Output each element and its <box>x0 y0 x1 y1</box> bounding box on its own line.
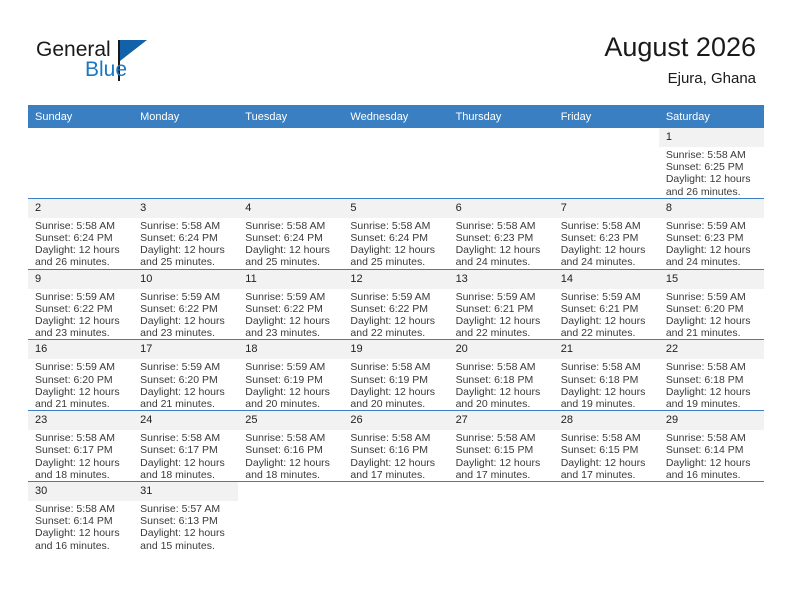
calendar-day-cell-empty <box>449 128 554 198</box>
day-sunset-text: Sunset: 6:24 PM <box>245 232 339 244</box>
day-details: Sunrise: 5:58 AMSunset: 6:18 PMDaylight:… <box>554 359 659 410</box>
day-sunrise-text: Sunrise: 5:58 AM <box>140 432 234 444</box>
day-sunset-text: Sunset: 6:16 PM <box>350 444 444 456</box>
day-details: Sunrise: 5:58 AMSunset: 6:14 PMDaylight:… <box>28 501 133 552</box>
day-sunrise-text: Sunrise: 5:58 AM <box>35 432 129 444</box>
day-sunset-text: Sunset: 6:24 PM <box>140 232 234 244</box>
day-daylight-1-text: Daylight: 12 hours <box>140 315 234 327</box>
day-sunset-text: Sunset: 6:19 PM <box>245 374 339 386</box>
day-sunrise-text: Sunrise: 5:58 AM <box>561 220 655 232</box>
day-daylight-1-text: Daylight: 12 hours <box>666 386 760 398</box>
day-number: 22 <box>659 340 764 359</box>
calendar-day-cell[interactable]: 27Sunrise: 5:58 AMSunset: 6:15 PMDayligh… <box>449 411 554 482</box>
day-details: Sunrise: 5:58 AMSunset: 6:24 PMDaylight:… <box>28 218 133 269</box>
calendar-day-cell[interactable]: 12Sunrise: 5:59 AMSunset: 6:22 PMDayligh… <box>343 269 448 340</box>
day-sunset-text: Sunset: 6:20 PM <box>666 303 760 315</box>
calendar-page: General Blue August 2026 Ejura, Ghana Su… <box>0 0 792 612</box>
day-daylight-2-text: and 23 minutes. <box>35 327 129 339</box>
day-number: 29 <box>659 411 764 430</box>
calendar-day-cell[interactable]: 18Sunrise: 5:59 AMSunset: 6:19 PMDayligh… <box>238 340 343 411</box>
page-title: August 2026 <box>604 30 756 64</box>
brand-word-blue: Blue <box>85 58 127 82</box>
day-sunset-text: Sunset: 6:21 PM <box>561 303 655 315</box>
day-details: Sunrise: 5:58 AMSunset: 6:17 PMDaylight:… <box>28 430 133 481</box>
day-sunrise-text: Sunrise: 5:58 AM <box>350 432 444 444</box>
calendar-day-cell[interactable]: 3Sunrise: 5:58 AMSunset: 6:24 PMDaylight… <box>133 198 238 269</box>
day-daylight-2-text: and 19 minutes. <box>561 398 655 410</box>
day-daylight-2-text: and 23 minutes. <box>245 327 339 339</box>
day-sunset-text: Sunset: 6:13 PM <box>140 515 234 527</box>
day-sunrise-text: Sunrise: 5:58 AM <box>456 432 550 444</box>
day-daylight-2-text: and 21 minutes. <box>666 327 760 339</box>
day-daylight-2-text: and 19 minutes. <box>666 398 760 410</box>
day-details: Sunrise: 5:58 AMSunset: 6:23 PMDaylight:… <box>554 218 659 269</box>
title-block: August 2026 Ejura, Ghana <box>604 30 756 90</box>
day-number <box>28 128 133 147</box>
day-sunset-text: Sunset: 6:18 PM <box>456 374 550 386</box>
day-sunset-text: Sunset: 6:24 PM <box>35 232 129 244</box>
calendar-grid: Sunday Monday Tuesday Wednesday Thursday… <box>28 105 764 552</box>
day-details: Sunrise: 5:57 AMSunset: 6:13 PMDaylight:… <box>133 501 238 552</box>
day-daylight-2-text: and 26 minutes. <box>666 186 760 198</box>
day-daylight-2-text: and 20 minutes. <box>350 398 444 410</box>
day-number: 4 <box>238 199 343 218</box>
day-daylight-1-text: Daylight: 12 hours <box>140 457 234 469</box>
day-number: 13 <box>449 270 554 289</box>
day-details: Sunrise: 5:59 AMSunset: 6:19 PMDaylight:… <box>238 359 343 410</box>
day-number <box>659 482 764 501</box>
day-details: Sunrise: 5:59 AMSunset: 6:23 PMDaylight:… <box>659 218 764 269</box>
calendar-day-cell[interactable]: 6Sunrise: 5:58 AMSunset: 6:23 PMDaylight… <box>449 198 554 269</box>
day-daylight-2-text: and 21 minutes. <box>35 398 129 410</box>
calendar-body: 1Sunrise: 5:58 AMSunset: 6:25 PMDaylight… <box>28 128 764 552</box>
day-sunrise-text: Sunrise: 5:58 AM <box>140 220 234 232</box>
day-daylight-2-text: and 23 minutes. <box>140 327 234 339</box>
day-daylight-1-text: Daylight: 12 hours <box>456 457 550 469</box>
day-sunset-text: Sunset: 6:23 PM <box>456 232 550 244</box>
day-sunrise-text: Sunrise: 5:59 AM <box>666 220 760 232</box>
calendar-day-cell[interactable]: 2Sunrise: 5:58 AMSunset: 6:24 PMDaylight… <box>28 198 133 269</box>
day-sunset-text: Sunset: 6:24 PM <box>350 232 444 244</box>
day-daylight-2-text: and 18 minutes. <box>245 469 339 481</box>
calendar-day-cell[interactable]: 16Sunrise: 5:59 AMSunset: 6:20 PMDayligh… <box>28 340 133 411</box>
day-number: 8 <box>659 199 764 218</box>
day-daylight-1-text: Daylight: 12 hours <box>35 244 129 256</box>
day-number: 9 <box>28 270 133 289</box>
day-sunrise-text: Sunrise: 5:58 AM <box>245 432 339 444</box>
day-number: 15 <box>659 270 764 289</box>
day-daylight-1-text: Daylight: 12 hours <box>561 457 655 469</box>
calendar-day-cell[interactable]: 5Sunrise: 5:58 AMSunset: 6:24 PMDaylight… <box>343 198 448 269</box>
calendar-day-cell-empty <box>238 128 343 198</box>
day-number <box>449 482 554 501</box>
day-daylight-1-text: Daylight: 12 hours <box>350 457 444 469</box>
calendar-day-cell-empty <box>554 482 659 552</box>
day-number: 21 <box>554 340 659 359</box>
page-subtitle: Ejura, Ghana <box>604 68 756 90</box>
day-number: 25 <box>238 411 343 430</box>
calendar-day-cell[interactable]: 23Sunrise: 5:58 AMSunset: 6:17 PMDayligh… <box>28 411 133 482</box>
day-sunrise-text: Sunrise: 5:58 AM <box>456 220 550 232</box>
day-daylight-1-text: Daylight: 12 hours <box>245 386 339 398</box>
day-number: 24 <box>133 411 238 430</box>
day-daylight-2-text: and 15 minutes. <box>140 540 234 552</box>
day-daylight-1-text: Daylight: 12 hours <box>350 386 444 398</box>
day-daylight-2-text: and 18 minutes. <box>35 469 129 481</box>
calendar-day-cell-empty <box>28 128 133 198</box>
day-sunset-text: Sunset: 6:14 PM <box>666 444 760 456</box>
day-number: 12 <box>343 270 448 289</box>
page-header: General Blue August 2026 Ejura, Ghana <box>0 0 792 104</box>
day-number: 28 <box>554 411 659 430</box>
day-number <box>238 128 343 147</box>
day-sunrise-text: Sunrise: 5:58 AM <box>35 503 129 515</box>
day-daylight-2-text: and 24 minutes. <box>456 256 550 268</box>
day-number <box>554 482 659 501</box>
day-sunrise-text: Sunrise: 5:59 AM <box>561 291 655 303</box>
calendar-day-cell[interactable]: 21Sunrise: 5:58 AMSunset: 6:18 PMDayligh… <box>554 340 659 411</box>
day-sunset-text: Sunset: 6:23 PM <box>666 232 760 244</box>
calendar-day-cell[interactable]: 22Sunrise: 5:58 AMSunset: 6:18 PMDayligh… <box>659 340 764 411</box>
calendar-day-cell[interactable]: 14Sunrise: 5:59 AMSunset: 6:21 PMDayligh… <box>554 269 659 340</box>
weekday-header-sunday: Sunday <box>28 105 133 128</box>
day-details: Sunrise: 5:58 AMSunset: 6:15 PMDaylight:… <box>449 430 554 481</box>
day-details: Sunrise: 5:58 AMSunset: 6:24 PMDaylight:… <box>238 218 343 269</box>
day-daylight-1-text: Daylight: 12 hours <box>666 244 760 256</box>
weekday-header-friday: Friday <box>554 105 659 128</box>
day-number: 16 <box>28 340 133 359</box>
day-number: 31 <box>133 482 238 501</box>
day-daylight-1-text: Daylight: 12 hours <box>666 457 760 469</box>
day-details: Sunrise: 5:58 AMSunset: 6:14 PMDaylight:… <box>659 430 764 481</box>
calendar-day-cell[interactable]: 17Sunrise: 5:59 AMSunset: 6:20 PMDayligh… <box>133 340 238 411</box>
brand-logo[interactable]: General Blue <box>36 38 236 88</box>
day-details: Sunrise: 5:58 AMSunset: 6:16 PMDaylight:… <box>343 430 448 481</box>
day-sunset-text: Sunset: 6:18 PM <box>561 374 655 386</box>
day-daylight-1-text: Daylight: 12 hours <box>456 315 550 327</box>
day-sunrise-text: Sunrise: 5:59 AM <box>456 291 550 303</box>
calendar-day-cell[interactable]: 9Sunrise: 5:59 AMSunset: 6:22 PMDaylight… <box>28 269 133 340</box>
day-sunrise-text: Sunrise: 5:58 AM <box>456 361 550 373</box>
weekday-header-saturday: Saturday <box>659 105 764 128</box>
day-sunrise-text: Sunrise: 5:59 AM <box>350 291 444 303</box>
day-details: Sunrise: 5:58 AMSunset: 6:23 PMDaylight:… <box>449 218 554 269</box>
day-details: Sunrise: 5:58 AMSunset: 6:24 PMDaylight:… <box>133 218 238 269</box>
day-sunset-text: Sunset: 6:15 PM <box>456 444 550 456</box>
day-details: Sunrise: 5:58 AMSunset: 6:19 PMDaylight:… <box>343 359 448 410</box>
calendar-day-cell[interactable]: 24Sunrise: 5:58 AMSunset: 6:17 PMDayligh… <box>133 411 238 482</box>
day-sunrise-text: Sunrise: 5:58 AM <box>561 361 655 373</box>
weekday-header-row: Sunday Monday Tuesday Wednesday Thursday… <box>28 105 764 128</box>
day-details: Sunrise: 5:59 AMSunset: 6:22 PMDaylight:… <box>343 289 448 340</box>
day-number: 27 <box>449 411 554 430</box>
calendar-week-row: 30Sunrise: 5:58 AMSunset: 6:14 PMDayligh… <box>28 482 764 552</box>
day-daylight-1-text: Daylight: 12 hours <box>350 315 444 327</box>
calendar-day-cell-empty <box>133 128 238 198</box>
day-sunrise-text: Sunrise: 5:58 AM <box>350 361 444 373</box>
day-number: 2 <box>28 199 133 218</box>
day-sunrise-text: Sunrise: 5:59 AM <box>35 291 129 303</box>
calendar-week-row: 9Sunrise: 5:59 AMSunset: 6:22 PMDaylight… <box>28 269 764 340</box>
day-daylight-2-text: and 22 minutes. <box>350 327 444 339</box>
day-sunrise-text: Sunrise: 5:59 AM <box>35 361 129 373</box>
day-number: 5 <box>343 199 448 218</box>
day-daylight-1-text: Daylight: 12 hours <box>666 173 760 185</box>
day-details: Sunrise: 5:58 AMSunset: 6:16 PMDaylight:… <box>238 430 343 481</box>
day-daylight-2-text: and 17 minutes. <box>350 469 444 481</box>
weekday-header-wednesday: Wednesday <box>343 105 448 128</box>
day-number: 10 <box>133 270 238 289</box>
day-daylight-2-text: and 20 minutes. <box>456 398 550 410</box>
day-daylight-1-text: Daylight: 12 hours <box>561 386 655 398</box>
weekday-header-monday: Monday <box>133 105 238 128</box>
day-daylight-1-text: Daylight: 12 hours <box>35 315 129 327</box>
day-sunset-text: Sunset: 6:18 PM <box>666 374 760 386</box>
day-sunset-text: Sunset: 6:25 PM <box>666 161 760 173</box>
day-sunset-text: Sunset: 6:20 PM <box>140 374 234 386</box>
day-daylight-2-text: and 22 minutes. <box>456 327 550 339</box>
calendar-day-cell[interactable]: 19Sunrise: 5:58 AMSunset: 6:19 PMDayligh… <box>343 340 448 411</box>
day-number: 26 <box>343 411 448 430</box>
day-daylight-2-text: and 25 minutes. <box>350 256 444 268</box>
day-sunrise-text: Sunrise: 5:59 AM <box>245 291 339 303</box>
day-daylight-1-text: Daylight: 12 hours <box>35 386 129 398</box>
calendar-day-cell-empty <box>343 482 448 552</box>
day-sunrise-text: Sunrise: 5:58 AM <box>666 432 760 444</box>
weekday-header-thursday: Thursday <box>449 105 554 128</box>
day-daylight-2-text: and 22 minutes. <box>561 327 655 339</box>
calendar-day-cell[interactable]: 1Sunrise: 5:58 AMSunset: 6:25 PMDaylight… <box>659 128 764 198</box>
day-details: Sunrise: 5:58 AMSunset: 6:18 PMDaylight:… <box>449 359 554 410</box>
day-daylight-2-text: and 17 minutes. <box>456 469 550 481</box>
day-sunrise-text: Sunrise: 5:58 AM <box>245 220 339 232</box>
day-daylight-2-text: and 16 minutes. <box>666 469 760 481</box>
day-daylight-2-text: and 24 minutes. <box>561 256 655 268</box>
day-details: Sunrise: 5:59 AMSunset: 6:20 PMDaylight:… <box>659 289 764 340</box>
day-number <box>343 482 448 501</box>
day-number <box>449 128 554 147</box>
calendar-day-cell-empty <box>238 482 343 552</box>
day-sunrise-text: Sunrise: 5:57 AM <box>140 503 234 515</box>
calendar-day-cell[interactable]: 15Sunrise: 5:59 AMSunset: 6:20 PMDayligh… <box>659 269 764 340</box>
day-daylight-1-text: Daylight: 12 hours <box>561 315 655 327</box>
day-sunset-text: Sunset: 6:23 PM <box>561 232 655 244</box>
calendar-day-cell[interactable]: 20Sunrise: 5:58 AMSunset: 6:18 PMDayligh… <box>449 340 554 411</box>
calendar-day-cell-empty <box>449 482 554 552</box>
day-details: Sunrise: 5:58 AMSunset: 6:18 PMDaylight:… <box>659 359 764 410</box>
day-sunset-text: Sunset: 6:17 PM <box>35 444 129 456</box>
day-daylight-1-text: Daylight: 12 hours <box>245 244 339 256</box>
calendar-day-cell[interactable]: 29Sunrise: 5:58 AMSunset: 6:14 PMDayligh… <box>659 411 764 482</box>
day-daylight-2-text: and 26 minutes. <box>35 256 129 268</box>
day-details: Sunrise: 5:59 AMSunset: 6:22 PMDaylight:… <box>133 289 238 340</box>
day-number: 17 <box>133 340 238 359</box>
calendar-day-cell[interactable]: 25Sunrise: 5:58 AMSunset: 6:16 PMDayligh… <box>238 411 343 482</box>
day-daylight-1-text: Daylight: 12 hours <box>245 457 339 469</box>
day-sunset-text: Sunset: 6:22 PM <box>35 303 129 315</box>
day-sunrise-text: Sunrise: 5:58 AM <box>666 149 760 161</box>
day-number: 1 <box>659 128 764 147</box>
day-details: Sunrise: 5:59 AMSunset: 6:22 PMDaylight:… <box>28 289 133 340</box>
day-sunset-text: Sunset: 6:16 PM <box>245 444 339 456</box>
day-number: 18 <box>238 340 343 359</box>
day-number: 11 <box>238 270 343 289</box>
weekday-header-tuesday: Tuesday <box>238 105 343 128</box>
day-sunset-text: Sunset: 6:22 PM <box>140 303 234 315</box>
day-details: Sunrise: 5:58 AMSunset: 6:24 PMDaylight:… <box>343 218 448 269</box>
calendar-day-cell[interactable]: 8Sunrise: 5:59 AMSunset: 6:23 PMDaylight… <box>659 198 764 269</box>
day-daylight-1-text: Daylight: 12 hours <box>456 244 550 256</box>
day-daylight-1-text: Daylight: 12 hours <box>140 386 234 398</box>
day-daylight-1-text: Daylight: 12 hours <box>140 527 234 539</box>
day-daylight-2-text: and 25 minutes. <box>245 256 339 268</box>
day-daylight-1-text: Daylight: 12 hours <box>456 386 550 398</box>
day-sunset-text: Sunset: 6:15 PM <box>561 444 655 456</box>
calendar-day-cell[interactable]: 10Sunrise: 5:59 AMSunset: 6:22 PMDayligh… <box>133 269 238 340</box>
day-daylight-1-text: Daylight: 12 hours <box>35 527 129 539</box>
day-number: 3 <box>133 199 238 218</box>
day-details: Sunrise: 5:58 AMSunset: 6:25 PMDaylight:… <box>659 147 764 198</box>
calendar-day-cell-empty <box>659 482 764 552</box>
day-details: Sunrise: 5:59 AMSunset: 6:22 PMDaylight:… <box>238 289 343 340</box>
day-number: 19 <box>343 340 448 359</box>
calendar-day-cell[interactable]: 4Sunrise: 5:58 AMSunset: 6:24 PMDaylight… <box>238 198 343 269</box>
day-daylight-1-text: Daylight: 12 hours <box>666 315 760 327</box>
day-daylight-2-text: and 20 minutes. <box>245 398 339 410</box>
day-number: 30 <box>28 482 133 501</box>
day-sunset-text: Sunset: 6:14 PM <box>35 515 129 527</box>
day-daylight-1-text: Daylight: 12 hours <box>561 244 655 256</box>
day-sunrise-text: Sunrise: 5:59 AM <box>666 291 760 303</box>
day-sunrise-text: Sunrise: 5:58 AM <box>35 220 129 232</box>
day-daylight-2-text: and 21 minutes. <box>140 398 234 410</box>
day-number <box>238 482 343 501</box>
calendar-week-row: 16Sunrise: 5:59 AMSunset: 6:20 PMDayligh… <box>28 340 764 411</box>
day-sunset-text: Sunset: 6:19 PM <box>350 374 444 386</box>
day-sunrise-text: Sunrise: 5:58 AM <box>350 220 444 232</box>
calendar-day-cell[interactable]: 31Sunrise: 5:57 AMSunset: 6:13 PMDayligh… <box>133 482 238 552</box>
day-number: 14 <box>554 270 659 289</box>
day-daylight-2-text: and 24 minutes. <box>666 256 760 268</box>
day-number: 20 <box>449 340 554 359</box>
day-sunset-text: Sunset: 6:22 PM <box>350 303 444 315</box>
day-daylight-1-text: Daylight: 12 hours <box>245 315 339 327</box>
day-number <box>133 128 238 147</box>
calendar-day-cell[interactable]: 13Sunrise: 5:59 AMSunset: 6:21 PMDayligh… <box>449 269 554 340</box>
day-details: Sunrise: 5:58 AMSunset: 6:17 PMDaylight:… <box>133 430 238 481</box>
day-details: Sunrise: 5:59 AMSunset: 6:21 PMDaylight:… <box>449 289 554 340</box>
day-sunrise-text: Sunrise: 5:59 AM <box>140 291 234 303</box>
day-sunset-text: Sunset: 6:20 PM <box>35 374 129 386</box>
day-daylight-1-text: Daylight: 12 hours <box>350 244 444 256</box>
day-sunrise-text: Sunrise: 5:59 AM <box>245 361 339 373</box>
calendar-day-cell[interactable]: 30Sunrise: 5:58 AMSunset: 6:14 PMDayligh… <box>28 482 133 552</box>
calendar-week-row: 1Sunrise: 5:58 AMSunset: 6:25 PMDaylight… <box>28 128 764 198</box>
day-daylight-1-text: Daylight: 12 hours <box>35 457 129 469</box>
day-number: 23 <box>28 411 133 430</box>
calendar-day-cell[interactable]: 28Sunrise: 5:58 AMSunset: 6:15 PMDayligh… <box>554 411 659 482</box>
day-number: 6 <box>449 199 554 218</box>
day-details: Sunrise: 5:59 AMSunset: 6:21 PMDaylight:… <box>554 289 659 340</box>
day-number <box>554 128 659 147</box>
day-details: Sunrise: 5:58 AMSunset: 6:15 PMDaylight:… <box>554 430 659 481</box>
calendar-day-cell-empty <box>554 128 659 198</box>
day-sunrise-text: Sunrise: 5:58 AM <box>666 361 760 373</box>
day-daylight-2-text: and 25 minutes. <box>140 256 234 268</box>
day-sunset-text: Sunset: 6:17 PM <box>140 444 234 456</box>
day-sunset-text: Sunset: 6:21 PM <box>456 303 550 315</box>
day-sunset-text: Sunset: 6:22 PM <box>245 303 339 315</box>
day-details: Sunrise: 5:59 AMSunset: 6:20 PMDaylight:… <box>28 359 133 410</box>
day-sunrise-text: Sunrise: 5:58 AM <box>561 432 655 444</box>
day-daylight-2-text: and 18 minutes. <box>140 469 234 481</box>
day-details: Sunrise: 5:59 AMSunset: 6:20 PMDaylight:… <box>133 359 238 410</box>
day-sunrise-text: Sunrise: 5:59 AM <box>140 361 234 373</box>
day-daylight-2-text: and 16 minutes. <box>35 540 129 552</box>
day-number <box>343 128 448 147</box>
day-number: 7 <box>554 199 659 218</box>
calendar-day-cell-empty <box>343 128 448 198</box>
calendar-day-cell[interactable]: 26Sunrise: 5:58 AMSunset: 6:16 PMDayligh… <box>343 411 448 482</box>
day-daylight-1-text: Daylight: 12 hours <box>140 244 234 256</box>
calendar-day-cell[interactable]: 11Sunrise: 5:59 AMSunset: 6:22 PMDayligh… <box>238 269 343 340</box>
day-daylight-2-text: and 17 minutes. <box>561 469 655 481</box>
calendar-week-row: 2Sunrise: 5:58 AMSunset: 6:24 PMDaylight… <box>28 198 764 269</box>
calendar-week-row: 23Sunrise: 5:58 AMSunset: 6:17 PMDayligh… <box>28 411 764 482</box>
calendar-day-cell[interactable]: 7Sunrise: 5:58 AMSunset: 6:23 PMDaylight… <box>554 198 659 269</box>
